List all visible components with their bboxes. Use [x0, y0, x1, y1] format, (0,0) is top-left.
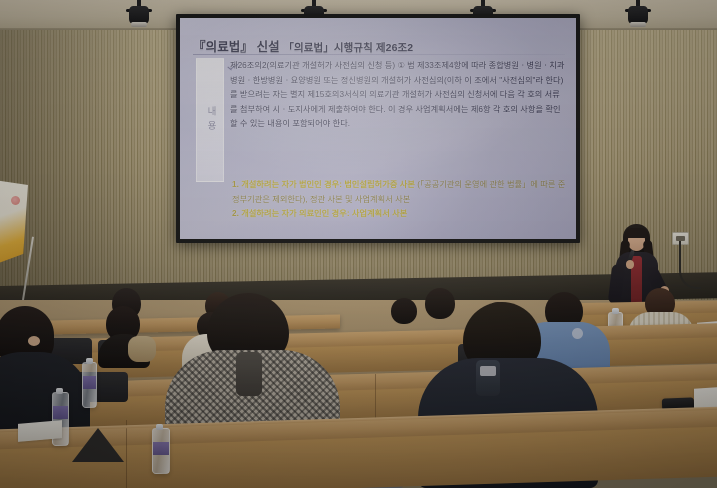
list-item: 2. 개설하려는 자가 의료인인 경우: 사업계획서 사본 [232, 207, 566, 222]
list-item: 1. 개설하려는 자가 법인인 경우: 법인설립허가증 사본 (「공공기관의 운… [232, 178, 566, 207]
slide-body: 제26조의2(의료기관 개설허가 사전심의 신청 등) ① 법 제33조제4항에… [230, 59, 566, 132]
slide-side-tab-label: 내용 [203, 106, 217, 135]
presenter-hand-left [626, 260, 634, 269]
projection-screen-frame: 『의료법』 신설 「의료법」시행규칙 제26조2 내용 제26조의2(의료기관 … [176, 14, 580, 243]
water-bottle [82, 362, 97, 408]
paper-sheet [18, 420, 62, 442]
list-item-lead: 개설하려는 자가 법인인 경우: [241, 180, 342, 189]
slide-title: 『의료법』 신설 「의료법」시행규칙 제26조2 [193, 36, 565, 55]
presentation-slide: 『의료법』 신설 「의료법」시행규칙 제26조2 내용 제26조의2(의료기관 … [180, 18, 576, 239]
ceiling-spotlight-icon [627, 0, 649, 30]
title-divider [193, 54, 565, 55]
water-bottle [152, 428, 170, 474]
wall-left-shadow [0, 30, 150, 320]
desk-nameplate [72, 428, 124, 462]
ceiling-spotlight-icon [128, 0, 150, 30]
list-item-lead: 개설하려는 자가 의료인인 경우: [241, 209, 349, 218]
slide-title-main: 『의료법』 신설 [193, 40, 280, 54]
presenter-fringe [625, 228, 648, 238]
slide-side-tab: 내용 [196, 58, 224, 182]
slide-numbered-list: 1. 개설하려는 자가 법인인 경우: 법인설립허가증 사본 (「공공기관의 운… [232, 178, 566, 222]
list-item-highlight: 사업계획서 사본 [352, 209, 407, 218]
power-cable [679, 241, 701, 289]
list-item-index: 2. [232, 209, 239, 218]
list-item-index: 1. [232, 180, 239, 189]
desk-seam [375, 374, 376, 418]
list-item-highlight: 법인설립허가증 사본 [344, 180, 415, 189]
projection-screen: 『의료법』 신설 「의료법」시행규칙 제26조2 내용 제26조의2(의료기관 … [180, 18, 576, 239]
slide-body-paragraph: 제26조의2(의료기관 개설허가 사전심의 신청 등) ① 법 제33조제4항에… [230, 59, 566, 132]
desk-seam [126, 420, 127, 488]
flag-emblem [11, 196, 20, 205]
lecture-hall-photo: 『의료법』 신설 「의료법」시행규칙 제26조2 내용 제26조의2(의료기관 … [0, 0, 717, 488]
slide-title-sub: 「의료법」시행규칙 제26조2 [283, 42, 413, 54]
